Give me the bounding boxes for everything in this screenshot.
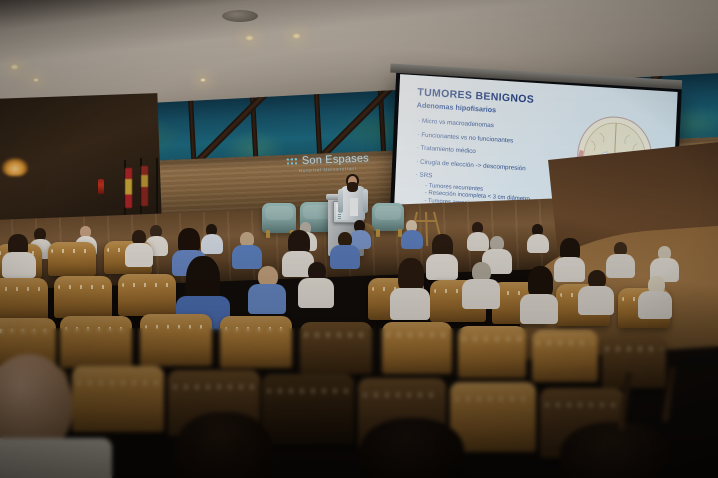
wall-sconce-light	[2, 158, 28, 176]
auditorium-seat[interactable]	[458, 326, 526, 378]
audience-seating	[0, 222, 718, 478]
logo-dots-icon	[286, 157, 299, 166]
auditorium-seat[interactable]	[450, 382, 536, 452]
downlight-icon	[292, 33, 301, 39]
venue-logo: Son Espases Hospital Universitari	[286, 152, 370, 173]
presenter-arm	[338, 189, 343, 213]
presenter-arm	[363, 189, 368, 213]
auditorium-seat[interactable]	[532, 330, 598, 382]
downlight-icon	[245, 35, 254, 41]
presenter-shirt	[350, 198, 358, 216]
presenter-hair-front	[347, 182, 358, 192]
balearic-flag-icon	[141, 166, 148, 206]
venue-logo-text: Son Espases	[302, 152, 369, 167]
fire-extinguisher-icon	[98, 179, 104, 194]
auditorium-seat[interactable]	[140, 314, 212, 366]
auditorium-seat[interactable]	[118, 274, 176, 316]
downlight-icon	[10, 64, 19, 70]
auditorium-seat[interactable]	[72, 366, 164, 432]
auditorium-seat[interactable]	[220, 316, 292, 368]
auditorium-seat[interactable]	[54, 276, 112, 318]
auditorium-seat[interactable]	[0, 278, 48, 320]
ceiling-speaker-icon	[222, 10, 258, 22]
auditorium-seat[interactable]	[60, 316, 132, 368]
downlight-icon	[200, 78, 206, 82]
auditorium-seat[interactable]	[382, 322, 452, 374]
auditorium-seat[interactable]	[48, 242, 96, 276]
auditorium-seat[interactable]	[300, 322, 372, 374]
spain-flag-icon	[125, 168, 132, 208]
auditorium-seat[interactable]	[602, 336, 666, 388]
auditorium-photo: Son Espases Hospital Universitari TUMORE…	[0, 0, 718, 478]
auditorium-seat[interactable]	[262, 374, 354, 444]
presenter	[340, 176, 366, 220]
downlight-icon	[33, 78, 39, 82]
